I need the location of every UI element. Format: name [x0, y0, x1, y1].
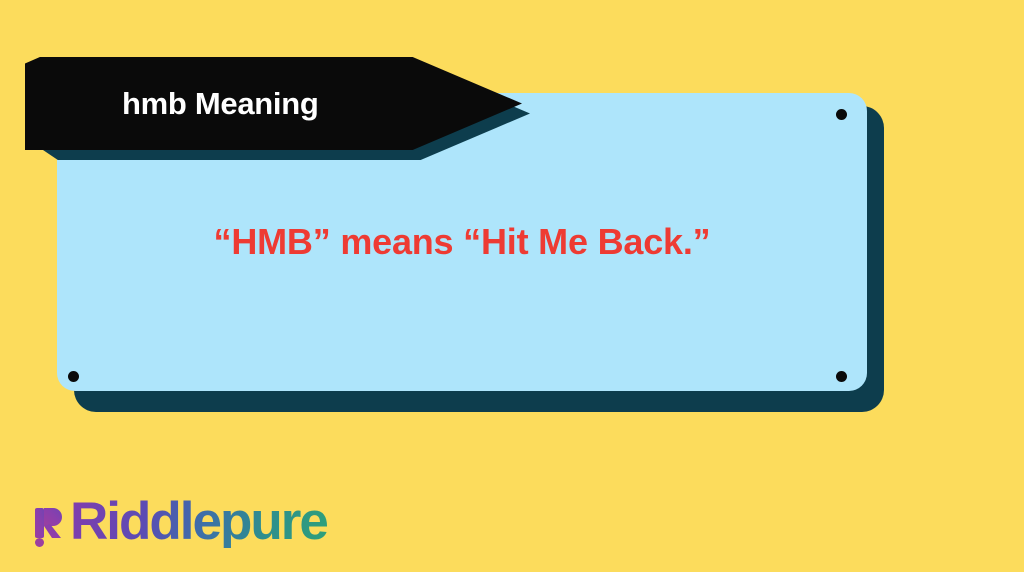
logo-r-mark-icon — [30, 492, 70, 548]
brand-logo: Riddlepure — [30, 486, 327, 548]
rivet-bottom-left-icon — [68, 371, 79, 382]
infographic-canvas: “HMB” means “Hit Me Back.” hmb Meaning — [0, 0, 1024, 572]
brand-wordmark: Riddlepure — [32, 495, 327, 548]
rivet-bottom-right-icon — [836, 371, 847, 382]
ribbon-title: hmb Meaning — [122, 86, 318, 122]
rivet-top-right-icon — [836, 109, 847, 120]
